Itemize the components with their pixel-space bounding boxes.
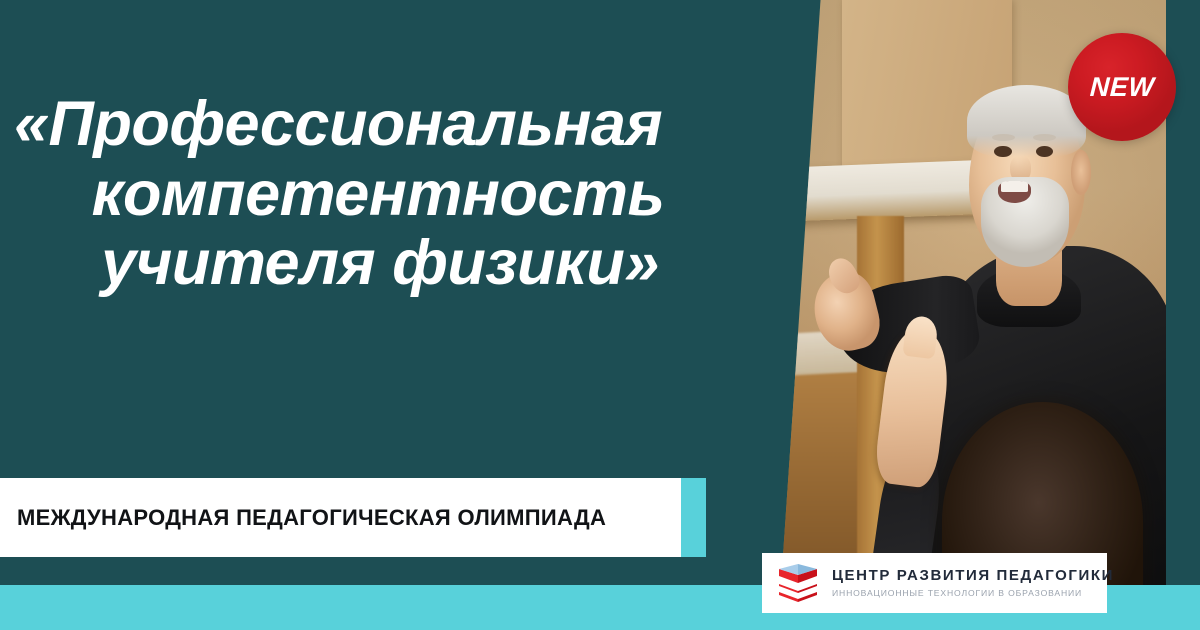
brand-logo-subtitle: ИННОВАЦИОННЫЕ ТЕХНОЛОГИИ В ОБРАЗОВАНИИ [832, 588, 1114, 598]
subtitle-banner: МЕЖДУНАРОДНАЯ ПЕДАГОГИЧЕСКАЯ ОЛИМПИАДА [0, 478, 681, 557]
page-title-line-2: компетентность [0, 160, 790, 229]
photo-teacher-ear [1071, 150, 1090, 195]
brand-logo: ЦЕНТР РАЗВИТИЯ ПЕДАГОГИКИ ИННОВАЦИОННЫЕ … [762, 553, 1107, 613]
photo-teacher-eye-left [994, 146, 1012, 157]
promo-poster: NEW «Профессиональная компетентность учи… [0, 0, 1200, 630]
page-title-line-3: учителя физики» [0, 229, 790, 298]
open-book-icon [776, 562, 820, 604]
subtitle-banner-label: МЕЖДУНАРОДНАЯ ПЕДАГОГИЧЕСКАЯ ОЛИМПИАДА [0, 505, 606, 531]
photo-teacher-eyebrow-right [1033, 134, 1056, 141]
brand-logo-title: ЦЕНТР РАЗВИТИЯ ПЕДАГОГИКИ [832, 568, 1114, 585]
page-title-line-1: «Профессиональная [0, 90, 790, 159]
subtitle-banner-accent-bar [681, 478, 706, 557]
new-badge: NEW [1068, 33, 1176, 141]
brand-logo-text: ЦЕНТР РАЗВИТИЯ ПЕДАГОГИКИ ИННОВАЦИОННЫЕ … [832, 568, 1114, 598]
photo-teacher-mouth [998, 181, 1031, 203]
page-title: «Профессиональная компетентность учителя… [0, 90, 790, 298]
new-badge-label: NEW [1089, 72, 1155, 103]
